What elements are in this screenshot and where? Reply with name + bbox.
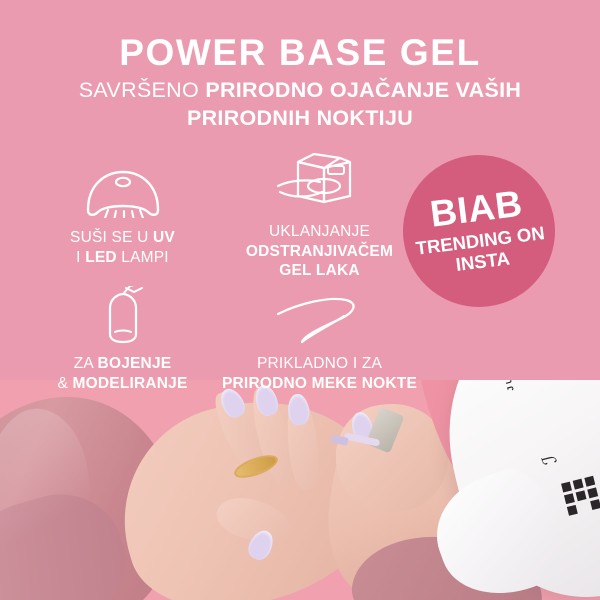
caption-regular: SUŠI SE U: [70, 229, 153, 246]
sleeve-fold: [0, 479, 140, 600]
nail-brush-finger-icon: [15, 288, 230, 344]
feature-caption: SUŠI SE U UV I LED LAMPI: [15, 228, 230, 267]
caption-regular: LAMPI: [117, 249, 169, 266]
caption-bold: GEL LAKA: [279, 262, 360, 279]
caption-bold: BOJENJE: [98, 355, 172, 372]
caption-regular: ZA: [74, 355, 98, 372]
caption-bold: PRIRODNO MEKE NOKTE: [222, 375, 417, 392]
caption-regular: UKLANJANJE: [269, 223, 370, 240]
subtitle-bold-1: PRIRODNO OJAČANJE VAŠIH: [205, 78, 521, 102]
caption-regular: PRIKLADNO I ZA: [257, 355, 382, 372]
info-graphic-zone: POWER BASE GEL SAVRŠENO PRIRODNO OJAČANJ…: [0, 0, 600, 400]
subtitle-regular: SAVRŠENO: [79, 78, 206, 102]
feature-color-sculpt: ZA BOJENJE & MODELIRANJE: [15, 288, 230, 393]
caption-bold: ODSTRANJIVAČEM: [246, 243, 393, 260]
feature-soft-nails: PRIKLADNO I ZA PRIRODNO MEKE NOKTE: [212, 292, 427, 393]
badge-subtitle-2: INSTA: [455, 248, 511, 275]
feature-caption: ZA BOJENJE & MODELIRANJE: [15, 354, 230, 393]
feature-caption: UKLANJANJE ODSTRANJIVAČEM GEL LAKA: [212, 222, 427, 281]
page-title: POWER BASE GEL: [0, 34, 600, 71]
feature-caption: PRIKLADNO I ZA PRIRODNO MEKE NOKTE: [212, 354, 427, 393]
feature-uv-led: SUŠI SE U UV I LED LAMPI: [15, 162, 230, 267]
remover-bottle-cotton-pad-icon: [212, 152, 427, 212]
subtitle-bold-2: PRIRODNIH NOKTIJU: [187, 106, 413, 130]
page-subtitle: SAVRŠENO PRIRODNO OJAČANJE VAŠIH PRIRODN…: [40, 76, 560, 133]
caption-bold: MODELIRANJE: [73, 375, 188, 392]
poster: JULIANA NAILS ℐ POWER BASE GEL SAVRŠENO …: [0, 0, 600, 600]
nail-swoosh-icon: [212, 292, 427, 344]
product-photo: JULIANA NAILS ℐ: [0, 380, 600, 600]
caption-regular: I: [76, 249, 85, 266]
feature-gel-remover: UKLANJANJE ODSTRANJIVAČEM GEL LAKA: [212, 152, 427, 281]
caption-regular: &: [57, 375, 72, 392]
uv-lamp-icon: [15, 162, 230, 218]
caption-bold: LED: [85, 249, 117, 266]
caption-bold: UV: [153, 229, 175, 246]
